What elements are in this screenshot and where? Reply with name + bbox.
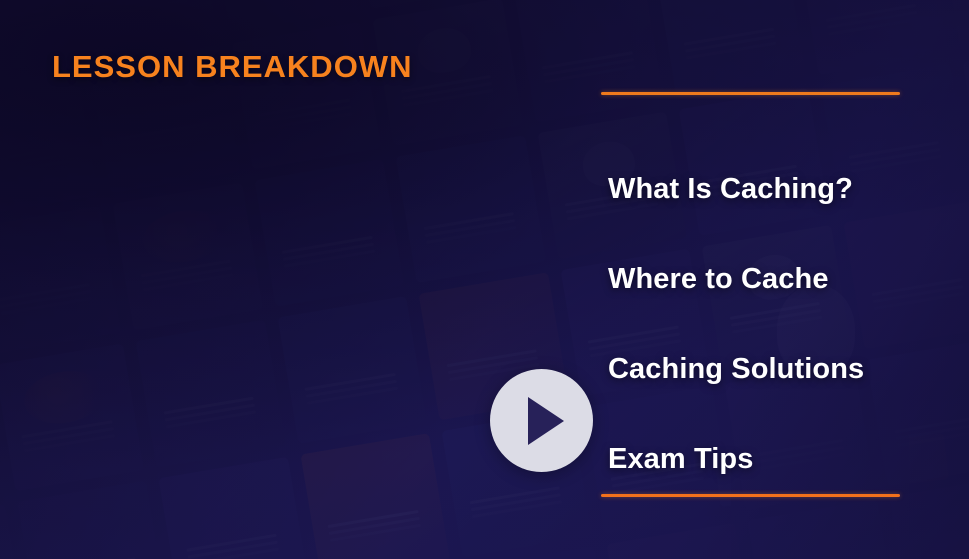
list-item[interactable]: What Is Caching?	[608, 144, 900, 234]
list-item[interactable]: Caching Solutions	[608, 324, 900, 414]
list-item[interactable]: Where to Cache	[608, 234, 900, 324]
slide-content: LESSON BREAKDOWN What Is Caching? Where …	[0, 0, 969, 559]
list-item[interactable]: Exam Tips	[608, 414, 900, 504]
play-triangle-icon	[528, 397, 564, 445]
lesson-item-label: Caching Solutions	[608, 353, 864, 386]
lesson-item-label: Where to Cache	[608, 263, 829, 296]
lesson-item-label: What Is Caching?	[608, 173, 853, 206]
page-title: LESSON BREAKDOWN	[52, 49, 412, 85]
lesson-breakdown-panel: What Is Caching? Where to Cache Caching …	[601, 92, 900, 497]
lesson-item-list: What Is Caching? Where to Cache Caching …	[608, 144, 900, 504]
lesson-item-label: Exam Tips	[608, 443, 753, 476]
top-divider	[601, 92, 900, 95]
bottom-divider	[601, 494, 900, 497]
video-slide: LESSON BREAKDOWN What Is Caching? Where …	[0, 0, 969, 559]
play-button[interactable]	[490, 369, 593, 472]
